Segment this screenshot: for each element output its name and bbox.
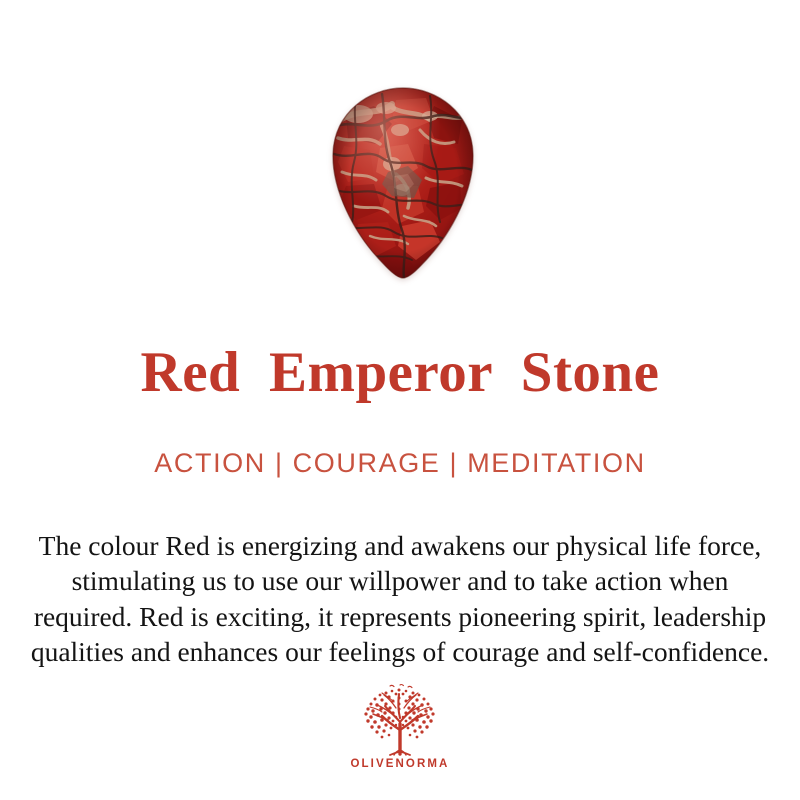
product-info-card: Red Emperor Stone ACTION | COURAGE | MED… — [0, 0, 800, 800]
stone-description: The colour Red is energizing and awakens… — [30, 528, 770, 670]
stone-image — [330, 86, 476, 280]
tree-of-life-icon — [352, 684, 448, 756]
brand-wordmark: OLIVENORMA — [351, 758, 450, 770]
stone-graphic — [330, 86, 476, 280]
page-title: Red Emperor Stone — [0, 342, 800, 404]
stone-keywords: ACTION | COURAGE | MEDITATION — [0, 447, 800, 479]
brand-logo: OLIVENORMA — [0, 684, 800, 770]
